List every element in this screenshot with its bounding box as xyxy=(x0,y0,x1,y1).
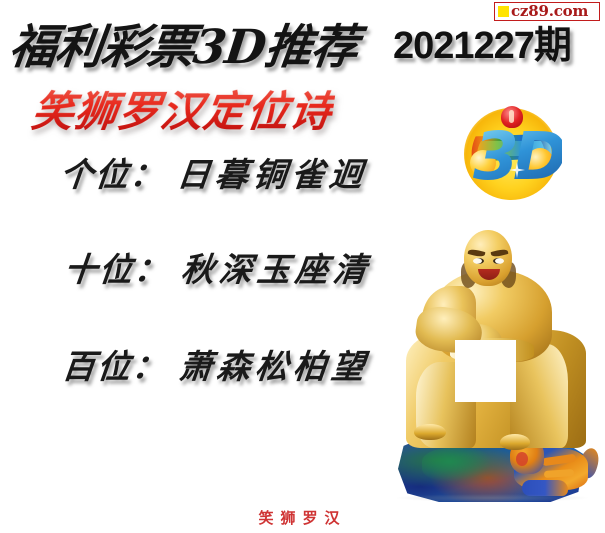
statue-eye-left xyxy=(473,258,484,264)
issue-number: 2021227期 xyxy=(393,14,571,69)
prediction-row-hundreds: 百位：萧森松柏望 xyxy=(60,340,372,388)
statue-rock-highlight xyxy=(422,448,492,482)
caption-text: 笑狮罗汉 xyxy=(258,509,346,527)
position-label-tens: 十位： xyxy=(62,250,171,289)
logo-3d-text: 3D xyxy=(473,126,562,189)
3d-lottery-logo: 3D xyxy=(464,104,558,202)
prediction-row-ones: 个位：日暮铜雀迥 xyxy=(58,148,370,196)
position-label-ones: 个位： xyxy=(58,155,167,194)
illustration-caption: 笑狮罗汉 xyxy=(0,507,605,528)
position-label-hundreds: 百位： xyxy=(60,347,169,386)
statue-eye-right xyxy=(493,258,504,264)
prediction-row-tens: 十位：秋深玉座清 xyxy=(62,243,374,291)
page-subtitle: 笑狮罗汉定位诗 xyxy=(28,78,338,139)
welfare-lottery-emblem-icon xyxy=(501,106,523,128)
page-title: 福利彩票3D推荐 xyxy=(6,8,362,77)
verse-text-tens: 秋深玉座清 xyxy=(179,250,373,289)
lion-face-marking xyxy=(516,452,528,466)
verse-text-hundreds: 萧森松柏望 xyxy=(177,347,371,386)
statue-foot-left xyxy=(414,424,446,440)
statue-foot-right xyxy=(500,434,530,450)
statue-ground-shadow xyxy=(396,494,588,502)
lottery-prediction-poster: cz89.com 福利彩票3D推荐 2021227期 笑狮罗汉定位诗 个位：日暮… xyxy=(0,0,605,533)
verse-text-ones: 日暮铜雀迥 xyxy=(175,155,369,194)
blank-overlay-box xyxy=(455,340,516,402)
